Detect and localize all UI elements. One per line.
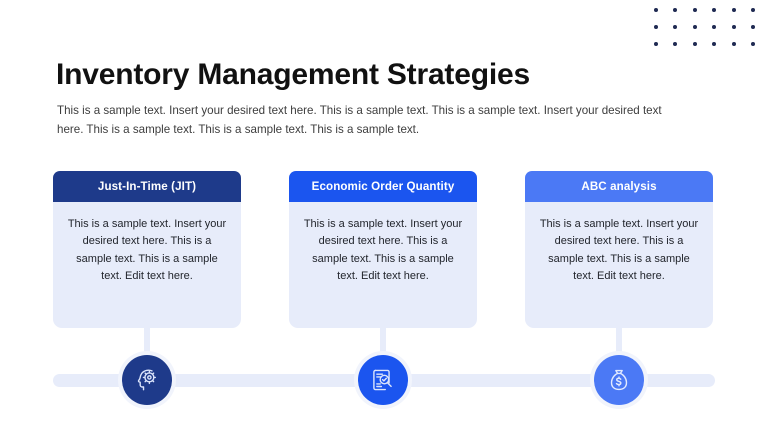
card-body-jit: This is a sample text. Insert your desir… [53,202,241,328]
grid-dot [654,8,658,12]
grid-dot [693,8,697,12]
grid-dot [673,42,677,46]
grid-dot [751,8,755,12]
card-body-eoq: This is a sample text. Insert your desir… [289,202,477,328]
card-header-jit: Just-In-Time (JIT) [53,171,241,202]
grid-dot [673,8,677,12]
grid-dot [732,8,736,12]
dot-grid-decoration [654,8,768,59]
card-row: Just-In-Time (JIT) This is a sample text… [0,171,768,331]
head-gear-icon [134,367,160,393]
grid-dot [654,42,658,46]
slide-title: Inventory Management Strategies [56,58,530,92]
grid-dot [751,25,755,29]
grid-dot [654,25,658,29]
card-header-abc: ABC analysis [525,171,713,202]
card-header-eoq: Economic Order Quantity [289,171,477,202]
strategy-card-jit[interactable]: Just-In-Time (JIT) This is a sample text… [53,171,241,328]
document-search-check-icon [370,367,396,393]
strategy-card-eoq[interactable]: Economic Order Quantity This is a sample… [289,171,477,328]
grid-dot [712,8,716,12]
strategy-card-abc[interactable]: ABC analysis This is a sample text. Inse… [525,171,713,328]
timeline-node-abc[interactable] [594,355,644,405]
card-body-abc: This is a sample text. Insert your desir… [525,202,713,328]
grid-dot [712,42,716,46]
grid-dot [693,42,697,46]
grid-dot [732,42,736,46]
grid-dot [732,25,736,29]
money-bag-icon [606,367,632,393]
grid-dot [693,25,697,29]
grid-dot [673,25,677,29]
slide-canvas: Inventory Management Strategies This is … [0,0,768,432]
grid-dot [712,25,716,29]
grid-dot [751,42,755,46]
timeline-node-eoq[interactable] [358,355,408,405]
timeline-node-jit[interactable] [122,355,172,405]
slide-subtitle: This is a sample text. Insert your desir… [57,102,667,140]
